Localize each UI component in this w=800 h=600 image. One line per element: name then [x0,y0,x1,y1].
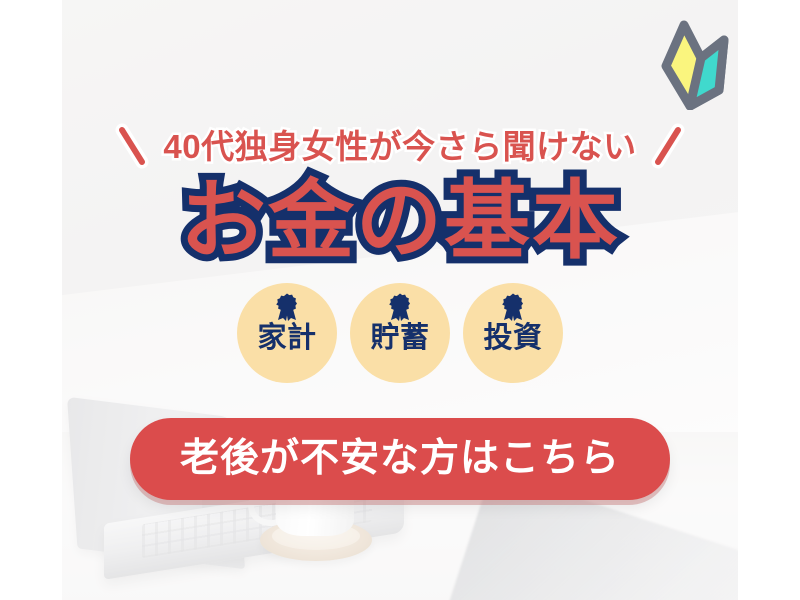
award-rosette-icon [272,292,302,322]
award-rosette-icon [385,292,415,322]
badge-group: 家計 貯蓄 投資 [62,283,738,383]
badge-label: 投資 [483,323,542,353]
slash-right-icon [651,123,685,169]
slash-left-icon [115,123,149,169]
cta-container: 老後が不安な方はこちら [62,418,738,500]
badge-label: 貯蓄 [370,323,429,353]
badge-savings: 貯蓄 [350,283,450,383]
award-rosette-icon [498,292,528,322]
badge-investment: 投資 [463,283,563,383]
badge-label: 家計 [257,323,316,353]
wakaba-beginner-mark-icon [657,14,733,110]
page-title: お金の基本 [62,178,738,264]
headline-row: 40代独身女性が今さら聞けない [62,118,738,174]
cta-button[interactable]: 老後が不安な方はこちら [130,418,670,500]
banner-canvas: 40代独身女性が今さら聞けない お金の基本 家計 [0,0,800,600]
advertisement-banner: 40代独身女性が今さら聞けない お金の基本 家計 [62,0,738,600]
badge-household-budget: 家計 [237,283,337,383]
headline-text: 40代独身女性が今さら聞けない [163,130,636,163]
